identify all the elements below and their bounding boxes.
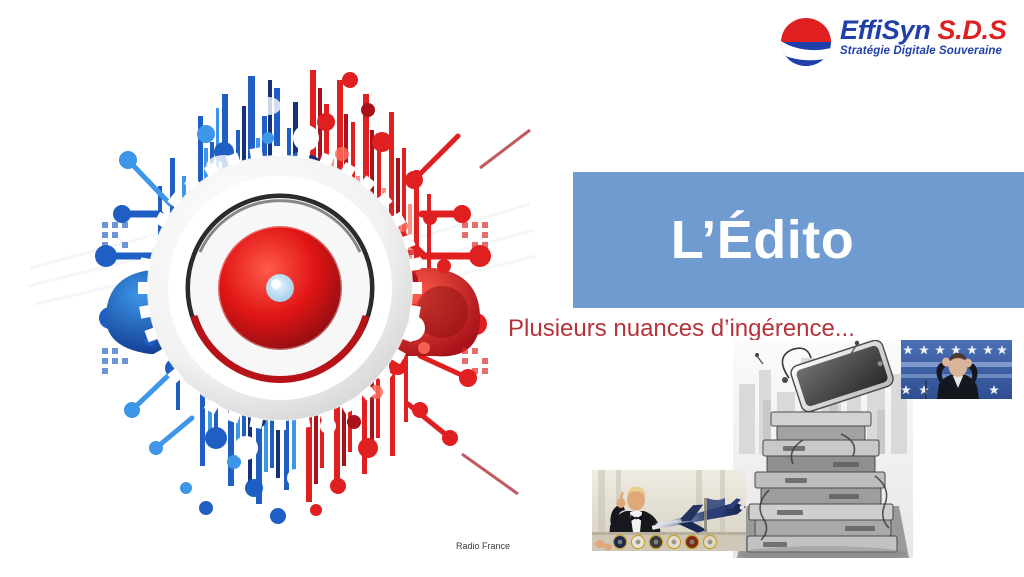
slide-canvas: EffiSynS.D.S Stratégie Digitale Souverai… xyxy=(0,0,1024,577)
photo-devices-pile xyxy=(733,340,913,558)
page-title: L’Édito xyxy=(573,213,952,267)
logo-tagline: Stratégie Digitale Souveraine xyxy=(840,45,1010,57)
photo-musk-portrait xyxy=(901,340,1012,399)
logo-swoosh-icon xyxy=(778,16,834,68)
logo-wordmark: EffiSynS.D.S Stratégie Digitale Souverai… xyxy=(840,16,1010,57)
hero-illustration xyxy=(10,18,550,558)
brand-logo: EffiSynS.D.S Stratégie Digitale Souverai… xyxy=(778,10,1008,76)
image-credit: Radio France xyxy=(456,541,510,551)
logo-name-primary: EffiSyn xyxy=(840,15,930,45)
photo-trump-podium xyxy=(592,470,746,551)
edito-title-banner: L’Édito xyxy=(573,172,1024,308)
logo-name-line: EffiSynS.D.S xyxy=(840,16,1010,44)
logo-name-secondary: S.D.S xyxy=(937,15,1006,45)
subtitle-text: Plusieurs nuances d’ingérence... xyxy=(508,316,855,342)
